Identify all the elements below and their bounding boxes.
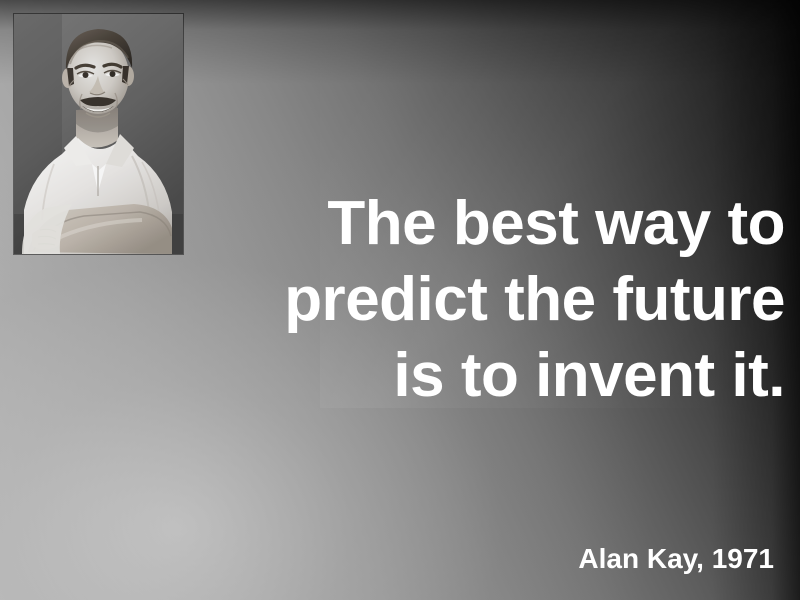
quote-line-1: The best way to (60, 186, 785, 262)
quote-slide: The best way to predict the future is to… (0, 0, 800, 600)
quote-text: The best way to predict the future is to… (60, 186, 785, 414)
quote-line-3: is to invent it. (60, 338, 785, 414)
quote-line-2: predict the future (60, 262, 785, 338)
quote-attribution: Alan Kay, 1971 (578, 542, 774, 576)
